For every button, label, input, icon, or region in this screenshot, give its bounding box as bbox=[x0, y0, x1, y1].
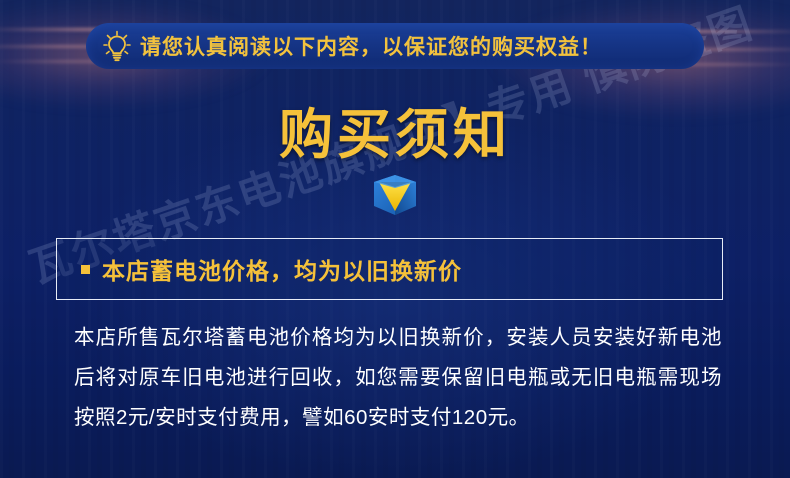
notice-banner-text: 请您认真阅读以下内容，以保证您的购买权益！ bbox=[140, 31, 602, 61]
purchase-notice-banner: 瓦尔塔京东电池旗舰店】专用 慎防盗图 请您认真阅读以下内容，以保证 bbox=[0, 0, 790, 478]
highlight-text: 本店蓄电池价格，均为以旧换新价 bbox=[102, 252, 462, 286]
lightbulb-icon bbox=[100, 29, 134, 63]
page-title: 购买须知 bbox=[0, 90, 790, 169]
cube-down-arrow-icon bbox=[0, 173, 790, 217]
body-paragraph: 本店所售瓦尔塔蓄电池价格均为以旧换新价，安装人员安装好新电池后将对原车旧电池进行… bbox=[74, 318, 722, 438]
square-bullet-icon bbox=[81, 265, 90, 274]
notice-banner-pill: 请您认真阅读以下内容，以保证您的购买权益！ bbox=[86, 23, 704, 69]
highlight-box: 本店蓄电池价格，均为以旧换新价 bbox=[56, 238, 723, 300]
